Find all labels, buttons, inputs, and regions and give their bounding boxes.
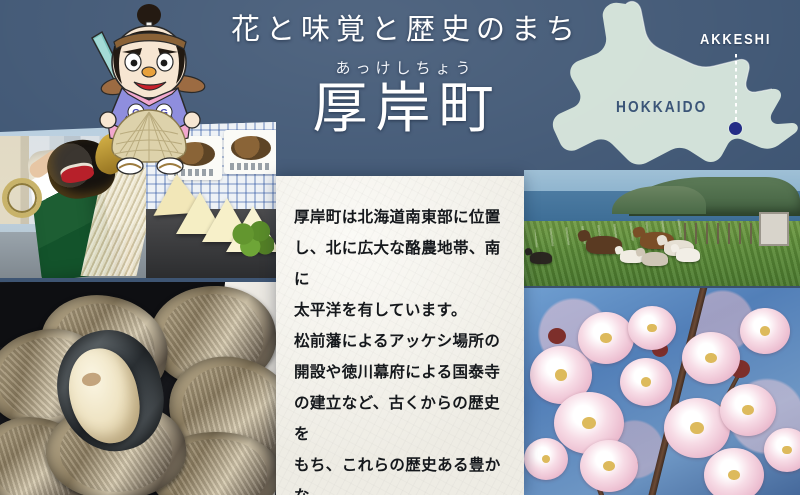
sakura-blossom <box>580 440 638 492</box>
map-leader-line <box>735 54 737 126</box>
description-line: 開設や徳川幕府による国泰寺 <box>294 357 508 388</box>
description-text: 厚岸町は北海道南東部に位置 し、北に広大な酪農地帯、南に 太平洋を有しています。… <box>294 202 508 495</box>
sakura-blossom <box>720 384 776 436</box>
horse <box>642 252 668 266</box>
mascot-character: G G <box>86 2 214 178</box>
map-location-dot <box>729 122 742 135</box>
photo-oysters <box>0 282 276 495</box>
description-line: もち、これらの歴史ある豊かな <box>294 450 508 495</box>
horse <box>530 252 552 264</box>
parsley-garnish <box>230 220 274 260</box>
tagline: 花と味覚と歴史のまち <box>218 14 588 46</box>
horse <box>676 248 700 262</box>
poster: HOKKAIDO AKKESHI 花と味覚と歴史のまち あっけしちょう 厚岸町 <box>0 0 800 495</box>
description-line: し、北に広大な酪農地帯、南に <box>294 233 508 295</box>
photo-cherry-blossoms <box>524 288 800 495</box>
photo-horses-pasture <box>524 170 800 286</box>
festival-bell-ring <box>2 178 42 218</box>
description-panel: 厚岸町は北海道南東部に位置 し、北に広大な酪農地帯、南に 太平洋を有しています。… <box>276 176 524 495</box>
town-name: 厚岸町 <box>218 80 588 138</box>
mascot-hand-right <box>184 112 200 128</box>
sakura-blossom <box>682 332 740 384</box>
mascot-head <box>112 26 186 98</box>
sakura-bud <box>548 328 566 344</box>
description-line: 松前藩によるアッケシ場所の <box>294 326 508 357</box>
sakura-blossom <box>524 438 568 480</box>
sakura-blossom <box>578 312 634 364</box>
map-region-label: HOKKAIDO <box>616 99 707 117</box>
sakura-blossom <box>740 308 790 354</box>
mascot-hand-left <box>100 112 116 128</box>
map-marker-label: AKKESHI <box>700 31 771 48</box>
sakura-blossom <box>704 448 764 495</box>
pasture-signpost <box>759 212 789 246</box>
hokkaido-island-shape <box>553 2 798 165</box>
sakura-blossom <box>620 358 672 406</box>
description-line: の建立など、古くからの歴史を <box>294 388 508 450</box>
sakura-blossom <box>628 306 676 350</box>
description-line: 厚岸町は北海道南東部に位置 <box>294 202 508 233</box>
town-name-kana: あっけしちょう <box>218 57 588 78</box>
title-block: 花と味覚と歴史のまち あっけしちょう 厚岸町 <box>218 14 588 138</box>
description-line: 太平洋を有しています。 <box>294 295 508 326</box>
